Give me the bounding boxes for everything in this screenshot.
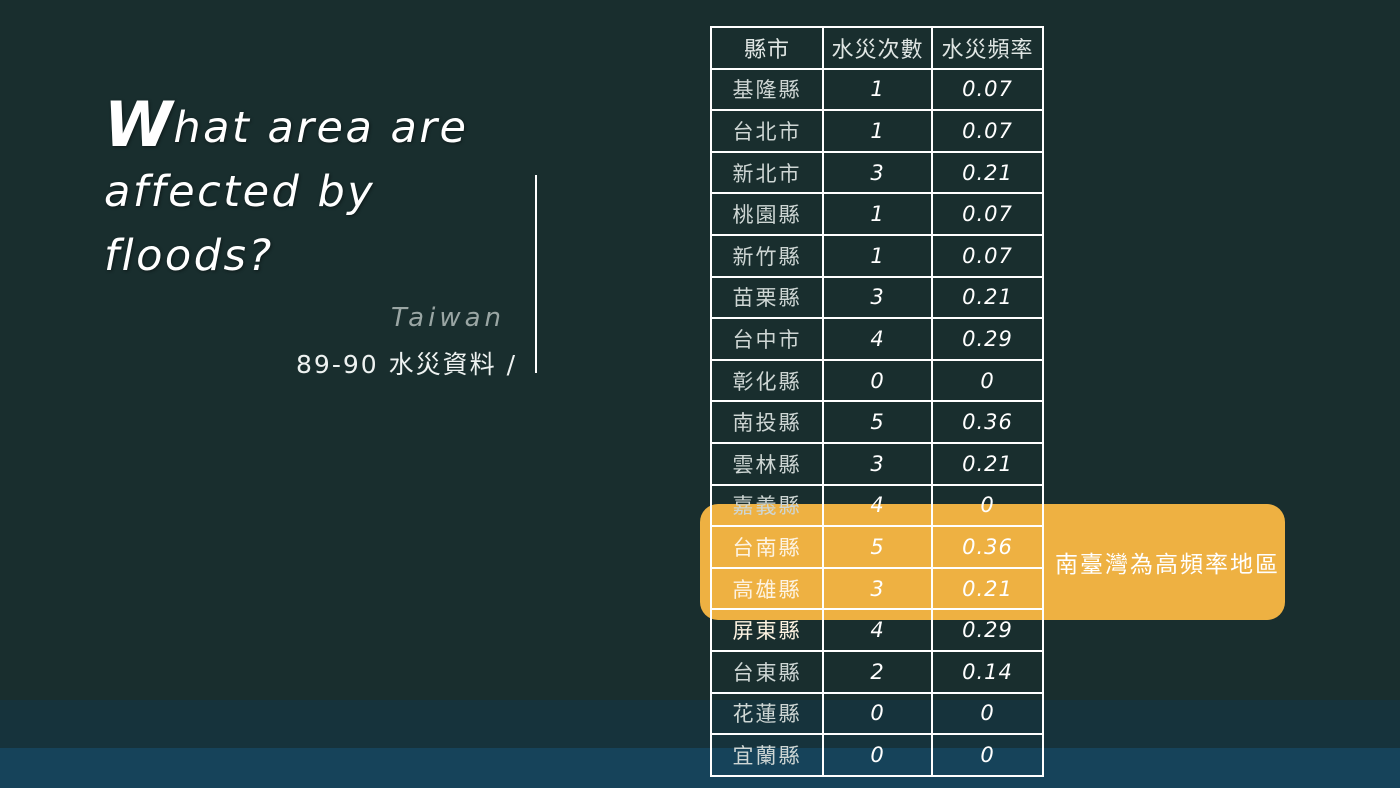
cell-flood-frequency: 0.29 bbox=[932, 318, 1043, 360]
cell-county-name: 雲林縣 bbox=[711, 443, 823, 485]
background-band-mid bbox=[0, 700, 1400, 748]
subtitle-region: Taiwan bbox=[391, 303, 505, 333]
cell-flood-frequency: 0.07 bbox=[932, 110, 1043, 152]
cell-flood-count: 0 bbox=[823, 693, 932, 735]
table-row: 雲林縣30.21 bbox=[711, 443, 1043, 485]
table-row: 台南縣50.36 bbox=[711, 526, 1043, 568]
title-dropcap: W bbox=[104, 88, 173, 161]
table-row: 屏東縣40.29 bbox=[711, 609, 1043, 651]
cell-county-name: 彰化縣 bbox=[711, 360, 823, 402]
table-row: 高雄縣30.21 bbox=[711, 568, 1043, 610]
cell-county-name: 新北市 bbox=[711, 152, 823, 194]
cell-flood-frequency: 0.14 bbox=[932, 651, 1043, 693]
table-row: 苗栗縣30.21 bbox=[711, 277, 1043, 319]
table-row: 台中市40.29 bbox=[711, 318, 1043, 360]
column-header-count: 水災次數 bbox=[823, 27, 932, 69]
cell-flood-count: 1 bbox=[823, 69, 932, 111]
cell-flood-count: 2 bbox=[823, 651, 932, 693]
cell-flood-frequency: 0.07 bbox=[932, 235, 1043, 277]
cell-county-name: 花蓮縣 bbox=[711, 693, 823, 735]
table-row: 桃園縣10.07 bbox=[711, 193, 1043, 235]
cell-flood-frequency: 0.07 bbox=[932, 69, 1043, 111]
flood-data-table: 縣市 水災次數 水災頻率 基隆縣10.07台北市10.07新北市30.21桃園縣… bbox=[710, 26, 1044, 777]
cell-flood-count: 5 bbox=[823, 401, 932, 443]
cell-flood-count: 1 bbox=[823, 235, 932, 277]
table-row: 基隆縣10.07 bbox=[711, 69, 1043, 111]
cell-flood-count: 5 bbox=[823, 526, 932, 568]
cell-flood-frequency: 0.21 bbox=[932, 568, 1043, 610]
cell-flood-count: 4 bbox=[823, 485, 932, 527]
cell-county-name: 嘉義縣 bbox=[711, 485, 823, 527]
cell-flood-frequency: 0.21 bbox=[932, 152, 1043, 194]
vertical-divider bbox=[535, 175, 537, 373]
cell-flood-count: 4 bbox=[823, 609, 932, 651]
table-header-row: 縣市 水災次數 水災頻率 bbox=[711, 27, 1043, 69]
cell-flood-frequency: 0.21 bbox=[932, 277, 1043, 319]
table-row: 南投縣50.36 bbox=[711, 401, 1043, 443]
cell-county-name: 南投縣 bbox=[711, 401, 823, 443]
cell-flood-count: 3 bbox=[823, 568, 932, 610]
title-line1: hat area are bbox=[173, 103, 468, 153]
cell-county-name: 台東縣 bbox=[711, 651, 823, 693]
cell-county-name: 桃園縣 bbox=[711, 193, 823, 235]
page-title: What area are affected by floods? bbox=[104, 96, 534, 288]
cell-flood-frequency: 0 bbox=[932, 360, 1043, 402]
cell-county-name: 台南縣 bbox=[711, 526, 823, 568]
callout-label: 南臺灣為高頻率地區 bbox=[1050, 504, 1285, 620]
cell-flood-frequency: 0.21 bbox=[932, 443, 1043, 485]
cell-flood-frequency: 0.07 bbox=[932, 193, 1043, 235]
cell-flood-count: 0 bbox=[823, 360, 932, 402]
cell-flood-frequency: 0 bbox=[932, 485, 1043, 527]
column-header-frequency: 水災頻率 bbox=[932, 27, 1043, 69]
cell-county-name: 屏東縣 bbox=[711, 609, 823, 651]
table-row: 宜蘭縣00 bbox=[711, 734, 1043, 776]
table-row: 新北市30.21 bbox=[711, 152, 1043, 194]
cell-flood-frequency: 0.36 bbox=[932, 526, 1043, 568]
cell-flood-count: 3 bbox=[823, 152, 932, 194]
cell-flood-count: 0 bbox=[823, 734, 932, 776]
cell-flood-count: 1 bbox=[823, 193, 932, 235]
slide-canvas: What area are affected by floods? Taiwan… bbox=[0, 0, 1400, 788]
cell-county-name: 高雄縣 bbox=[711, 568, 823, 610]
title-line2: affected by floods? bbox=[104, 160, 534, 288]
cell-flood-count: 4 bbox=[823, 318, 932, 360]
cell-county-name: 苗栗縣 bbox=[711, 277, 823, 319]
column-header-county: 縣市 bbox=[711, 27, 823, 69]
cell-flood-count: 3 bbox=[823, 277, 932, 319]
table-row: 彰化縣00 bbox=[711, 360, 1043, 402]
cell-county-name: 台中市 bbox=[711, 318, 823, 360]
table-row: 花蓮縣00 bbox=[711, 693, 1043, 735]
cell-county-name: 基隆縣 bbox=[711, 69, 823, 111]
cell-flood-frequency: 0 bbox=[932, 734, 1043, 776]
cell-county-name: 宜蘭縣 bbox=[711, 734, 823, 776]
cell-flood-count: 3 bbox=[823, 443, 932, 485]
cell-county-name: 新竹縣 bbox=[711, 235, 823, 277]
background-band-bottom bbox=[0, 748, 1400, 788]
table-row: 台東縣20.14 bbox=[711, 651, 1043, 693]
table-row: 嘉義縣40 bbox=[711, 485, 1043, 527]
cell-flood-count: 1 bbox=[823, 110, 932, 152]
table-row: 新竹縣10.07 bbox=[711, 235, 1043, 277]
cell-flood-frequency: 0.36 bbox=[932, 401, 1043, 443]
table-body: 基隆縣10.07台北市10.07新北市30.21桃園縣10.07新竹縣10.07… bbox=[711, 69, 1043, 776]
cell-flood-frequency: 0 bbox=[932, 693, 1043, 735]
cell-county-name: 台北市 bbox=[711, 110, 823, 152]
cell-flood-frequency: 0.29 bbox=[932, 609, 1043, 651]
table-row: 台北市10.07 bbox=[711, 110, 1043, 152]
subtitle-source: 89-90 水災資料 / bbox=[296, 345, 517, 381]
